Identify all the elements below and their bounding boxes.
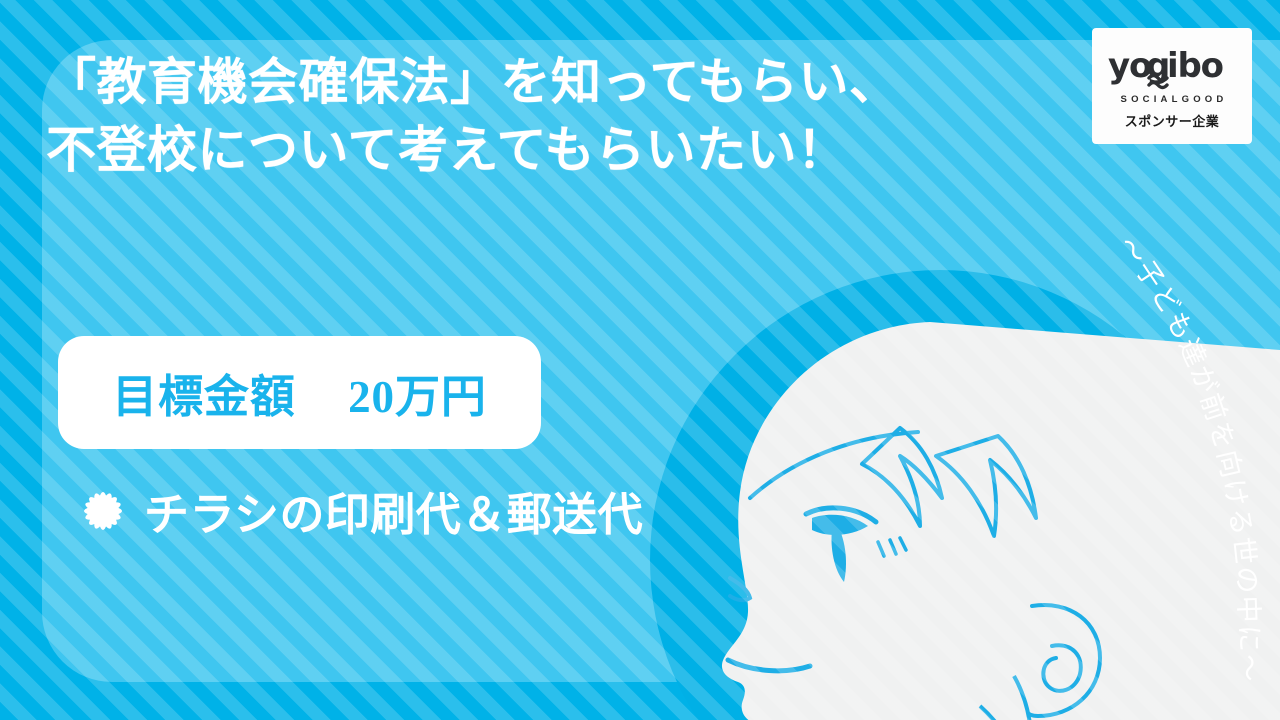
flower-asterisk-icon <box>80 488 126 534</box>
fund-usage-text: チラシの印刷代＆郵送代 <box>144 478 643 543</box>
headline-line-1: 「教育機会確保法」を知ってもらい、 <box>46 48 946 116</box>
svg-text:yo: yo <box>1108 46 1151 86</box>
svg-text:ibo: ibo <box>1167 46 1223 86</box>
yogibo-logo: yo g ibo <box>1108 45 1236 91</box>
sponsor-socialgood-label: SOCIALGOOD <box>1117 94 1228 105</box>
poster-canvas: 「教育機会確保法」を知ってもらい、 不登校について考えてもらいたい！ 目標金額 … <box>0 0 1280 720</box>
headline-line-2: 不登校について考えてもらいたい！ <box>46 116 946 184</box>
goal-amount-card: 目標金額 20万円 <box>58 336 541 449</box>
sponsor-role-label: スポンサー企業 <box>1125 111 1220 130</box>
fund-usage-row: チラシの印刷代＆郵送代 <box>80 478 643 543</box>
page-title: 「教育機会確保法」を知ってもらい、 不登校について考えてもらいたい！ <box>46 48 946 184</box>
child-profile-illustration <box>600 230 1280 720</box>
sponsor-logo-card: yo g ibo SOCIALGOOD スポンサー企業 <box>1092 28 1252 144</box>
goal-label: 目標金額 <box>112 372 296 422</box>
goal-amount-text: 目標金額 20万円 <box>112 360 487 425</box>
goal-amount-value: 20万円 <box>348 372 487 422</box>
